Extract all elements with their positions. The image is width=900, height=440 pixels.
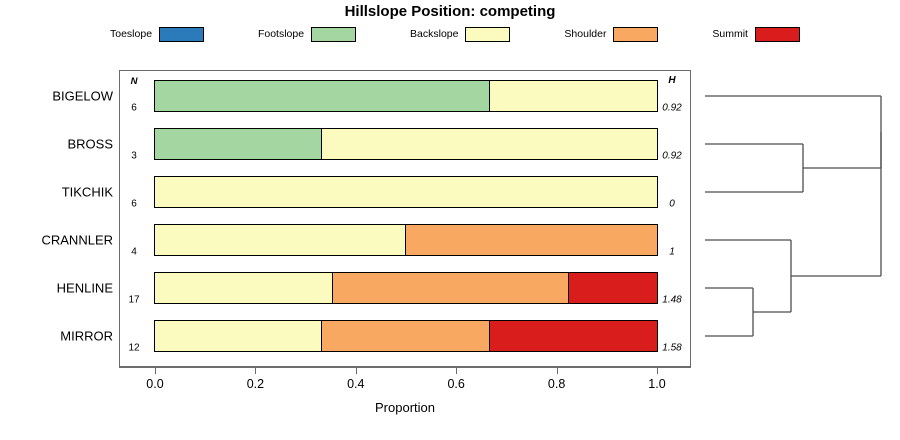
h-column: H 0.920.92011.481.58 <box>655 70 695 367</box>
x-axis-tick-label: 0.0 <box>130 377 180 391</box>
bar-segment[interactable] <box>154 272 333 304</box>
x-axis-tick-label: 0.6 <box>431 377 481 391</box>
legend-item-label: Backslope <box>410 28 458 40</box>
n-value: 12 <box>119 343 149 354</box>
chart-root: Hillslope Position: competing ToeslopeFo… <box>0 0 900 440</box>
h-value: 0 <box>655 199 689 210</box>
x-axis-title: Proportion <box>119 400 691 415</box>
bar-segment[interactable] <box>332 272 570 304</box>
bar-segment[interactable] <box>154 80 490 112</box>
bar-segment[interactable] <box>321 320 490 352</box>
bar-segment[interactable] <box>154 176 657 208</box>
n-value: 6 <box>119 199 149 210</box>
bar-segment[interactable] <box>405 224 657 256</box>
h-value: 1 <box>655 247 689 258</box>
legend-item-label: Toeslope <box>110 28 152 40</box>
x-axis-tick-label: 0.2 <box>230 377 280 391</box>
h-column-header: H <box>655 75 689 86</box>
x-axis-line <box>119 367 691 368</box>
n-value: 6 <box>119 103 149 114</box>
x-axis-tick <box>557 367 558 374</box>
n-value: 3 <box>119 151 149 162</box>
y-axis-category-label: BROSS <box>0 137 113 152</box>
x-axis-tick <box>456 367 457 374</box>
bar-row[interactable] <box>155 80 657 112</box>
bar-row[interactable] <box>155 128 657 160</box>
bar-segment[interactable] <box>568 272 658 304</box>
h-value: 0.92 <box>655 103 689 114</box>
legend: ToeslopeFootslopeBackslopeShoulderSummit <box>110 25 800 43</box>
bar-segment[interactable] <box>489 80 658 112</box>
legend-color-swatch <box>613 27 658 42</box>
legend-item[interactable]: Summit <box>712 27 800 42</box>
bar-row[interactable] <box>155 272 657 304</box>
page-title: Hillslope Position: competing <box>0 3 900 20</box>
x-axis-tick-label: 0.4 <box>331 377 381 391</box>
n-value: 4 <box>119 247 149 258</box>
n-value: 17 <box>119 295 149 306</box>
n-column: N 63641712 <box>119 70 155 367</box>
bar-row[interactable] <box>155 224 657 256</box>
bar-segment[interactable] <box>154 224 406 256</box>
y-axis-category-label: TIKCHIK <box>0 185 113 200</box>
legend-item-label: Summit <box>712 28 748 40</box>
legend-item[interactable]: Footslope <box>258 27 356 42</box>
bar-segment[interactable] <box>154 128 323 160</box>
h-value: 0.92 <box>655 151 689 162</box>
legend-color-swatch <box>311 27 356 42</box>
legend-color-swatch <box>465 27 510 42</box>
bar-segment[interactable] <box>154 320 323 352</box>
x-axis: 0.00.20.40.60.81.0 <box>119 367 691 427</box>
y-axis-category-label: CRANNLER <box>0 233 113 248</box>
h-value: 1.48 <box>655 295 689 306</box>
bar-segment[interactable] <box>321 128 657 160</box>
legend-item[interactable]: Shoulder <box>564 27 658 42</box>
legend-item[interactable]: Toeslope <box>110 27 204 42</box>
y-axis-labels: BIGELOWBROSSTIKCHIKCRANNLERHENLINEMIRROR <box>0 70 113 367</box>
bar-row[interactable] <box>155 176 657 208</box>
legend-item[interactable]: Backslope <box>410 27 510 42</box>
legend-color-swatch <box>755 27 800 42</box>
x-axis-tick <box>657 367 658 374</box>
y-axis-category-label: MIRROR <box>0 329 113 344</box>
y-axis-category-label: HENLINE <box>0 281 113 296</box>
x-axis-tick <box>356 367 357 374</box>
bar-row[interactable] <box>155 320 657 352</box>
n-column-header: N <box>119 76 149 87</box>
h-value: 1.58 <box>655 343 689 354</box>
x-axis-tick <box>255 367 256 374</box>
dendrogram <box>691 70 900 367</box>
bar-segment[interactable] <box>489 320 658 352</box>
legend-item-label: Shoulder <box>564 28 606 40</box>
legend-item-label: Footslope <box>258 28 304 40</box>
y-axis-category-label: BIGELOW <box>0 89 113 104</box>
x-axis-tick-label: 1.0 <box>632 377 682 391</box>
x-axis-tick <box>155 367 156 374</box>
x-axis-tick-label: 0.8 <box>532 377 582 391</box>
legend-color-swatch <box>159 27 204 42</box>
